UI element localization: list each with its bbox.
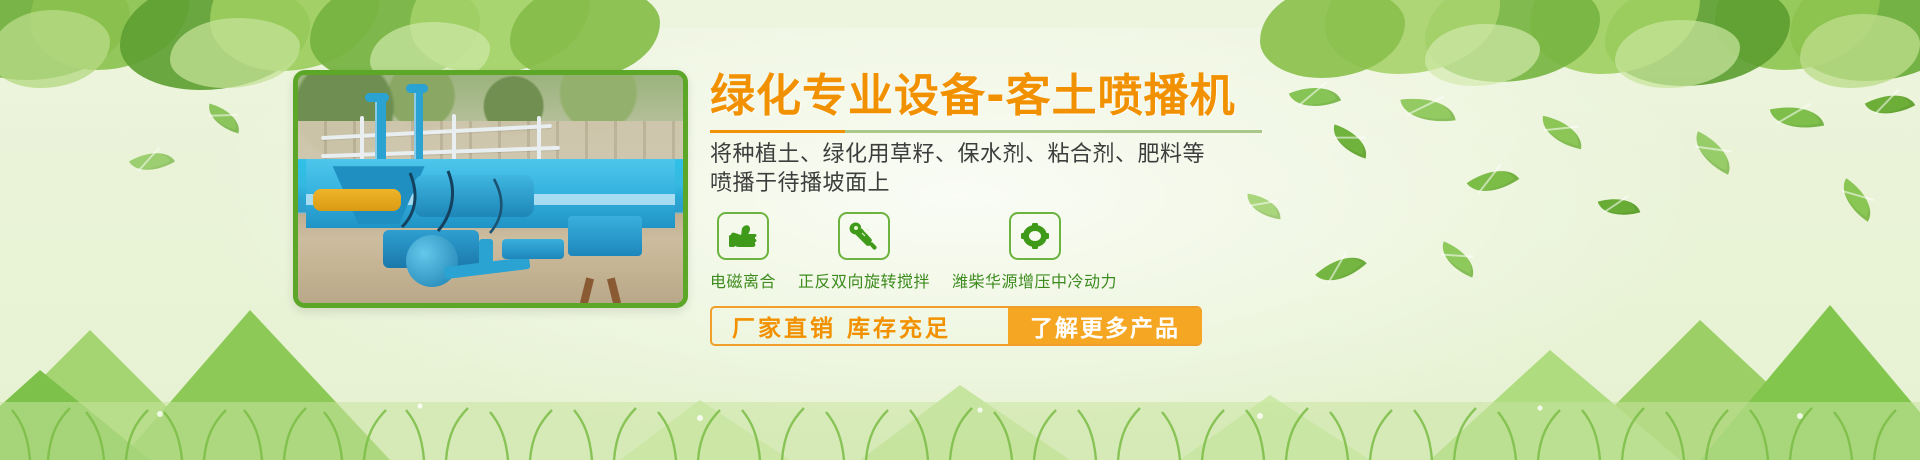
engine-gear-icon — [1020, 222, 1050, 250]
hoses — [298, 75, 673, 293]
product-photo — [293, 70, 688, 308]
floating-leaf — [1538, 116, 1586, 150]
floating-leaf — [1687, 131, 1740, 175]
learn-more-button[interactable]: 了解更多产品 — [1008, 308, 1202, 344]
feature-label: 潍柴华源增压中冷动力 — [952, 268, 1117, 292]
feature-item-electromagnetic-clutch[interactable]: 电磁离合 — [710, 212, 776, 292]
cta-slogan: 厂家直销 库存充足 — [712, 309, 1008, 343]
grass-strip — [0, 340, 1920, 460]
clutch-hand-icon — [728, 222, 758, 250]
promo-banner: 绿化专业设备-客土喷播机 将种植土、绿化用草籽、保水剂、粘合剂、肥料等 喷播于待… — [0, 0, 1920, 460]
foliage-right-cluster — [1290, 0, 1920, 120]
feature-list: 电磁离合 正反双向旋转搅拌 — [710, 212, 1350, 292]
title-divider — [710, 130, 1262, 133]
feature-icon-box — [838, 212, 890, 260]
floating-leaf — [1467, 157, 1520, 204]
floating-leaf — [129, 142, 175, 182]
feature-label: 电磁离合 — [710, 268, 776, 292]
cta-bar: 厂家直销 库存充足 了解更多产品 — [710, 306, 1202, 346]
banner-content: 绿化专业设备-客土喷播机 将种植土、绿化用草籽、保水剂、粘合剂、肥料等 喷播于待… — [710, 72, 1350, 346]
wrench-screwdriver-icon — [849, 222, 879, 250]
feature-item-weichai-engine[interactable]: 潍柴华源增压中冷动力 — [952, 212, 1117, 292]
grass-svg — [0, 340, 1920, 460]
subtitle-line-1: 将种植土、绿化用草籽、保水剂、粘合剂、肥料等 — [710, 140, 1350, 169]
feature-item-bidirectional-mixing[interactable]: 正反双向旋转搅拌 — [798, 212, 930, 292]
feature-label: 正反双向旋转搅拌 — [798, 268, 930, 292]
page-title: 绿化专业设备-客土喷播机 — [710, 72, 1350, 121]
product-photo-image — [298, 75, 683, 303]
feature-icon-box — [717, 212, 769, 260]
subtitle-line-2: 喷播于待播坡面上 — [710, 169, 1350, 198]
feature-icon-box — [1009, 212, 1061, 260]
